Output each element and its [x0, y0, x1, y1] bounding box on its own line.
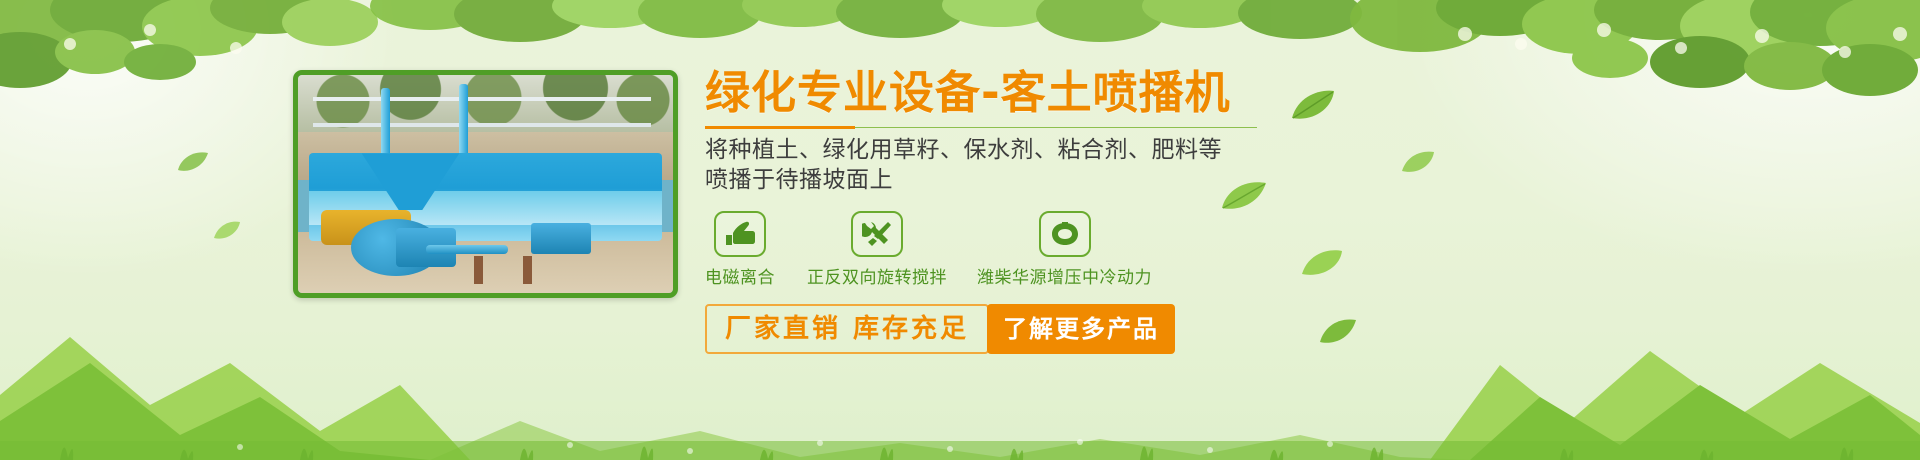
photo-railing-top — [313, 97, 651, 101]
feature-label: 潍柴华源增压中冷动力 — [977, 263, 1152, 288]
feature-item-engine[interactable]: 潍柴华源增压中冷动力 — [977, 211, 1152, 288]
feature-label: 电磁离合 — [705, 263, 775, 288]
learn-more-button[interactable]: 了解更多产品 — [987, 304, 1175, 354]
subtitle-line-1: 将种植土、绿化用草籽、保水剂、粘合剂、肥料等 — [705, 135, 1325, 165]
promo-banner: 绿化专业设备-客土喷播机 将种植土、绿化用草籽、保水剂、粘合剂、肥料等 喷播于待… — [0, 0, 1920, 460]
leaf-icon — [212, 220, 242, 242]
photo-trees — [298, 75, 673, 140]
page-title: 绿化专业设备-客土喷播机 — [705, 66, 1325, 120]
feature-icon-box — [1039, 211, 1091, 257]
product-photo[interactable] — [293, 70, 678, 298]
leaf-icon — [1400, 150, 1436, 176]
wrench-screwdriver-icon — [862, 220, 892, 248]
feature-item-mixing[interactable]: 正反双向旋转搅拌 — [807, 211, 947, 288]
photo-outlet-pipe — [426, 245, 509, 254]
divider-orange-segment — [705, 126, 855, 129]
feature-icon-box — [714, 211, 766, 257]
photo-control-box — [531, 223, 591, 254]
factory-direct-badge: 厂家直销 库存充足 — [705, 304, 989, 354]
photo-support-leg — [474, 256, 483, 284]
title-divider — [705, 126, 1257, 129]
photo-pipe-left — [381, 88, 390, 162]
photo-railing-mid — [313, 123, 651, 127]
leaf-icon — [176, 150, 210, 174]
feature-icon-box — [851, 211, 903, 257]
feature-list: 电磁离合 正反双向旋转搅拌 — [705, 211, 1325, 288]
feature-label: 正反双向旋转搅拌 — [807, 263, 947, 288]
engine-icon — [1050, 221, 1080, 247]
photo-pipe-right — [459, 84, 468, 158]
banner-content: 绿化专业设备-客土喷播机 将种植土、绿化用草籽、保水剂、粘合剂、肥料等 喷播于待… — [705, 66, 1325, 354]
feature-item-clutch[interactable]: 电磁离合 — [705, 211, 775, 288]
subtitle-line-2: 喷播于待播坡面上 — [705, 165, 1325, 195]
divider-green-segment — [855, 127, 1257, 128]
clutch-hand-icon — [725, 221, 755, 247]
cta-row: 厂家直销 库存充足 了解更多产品 — [705, 304, 1325, 354]
photo-support-leg — [523, 256, 532, 284]
